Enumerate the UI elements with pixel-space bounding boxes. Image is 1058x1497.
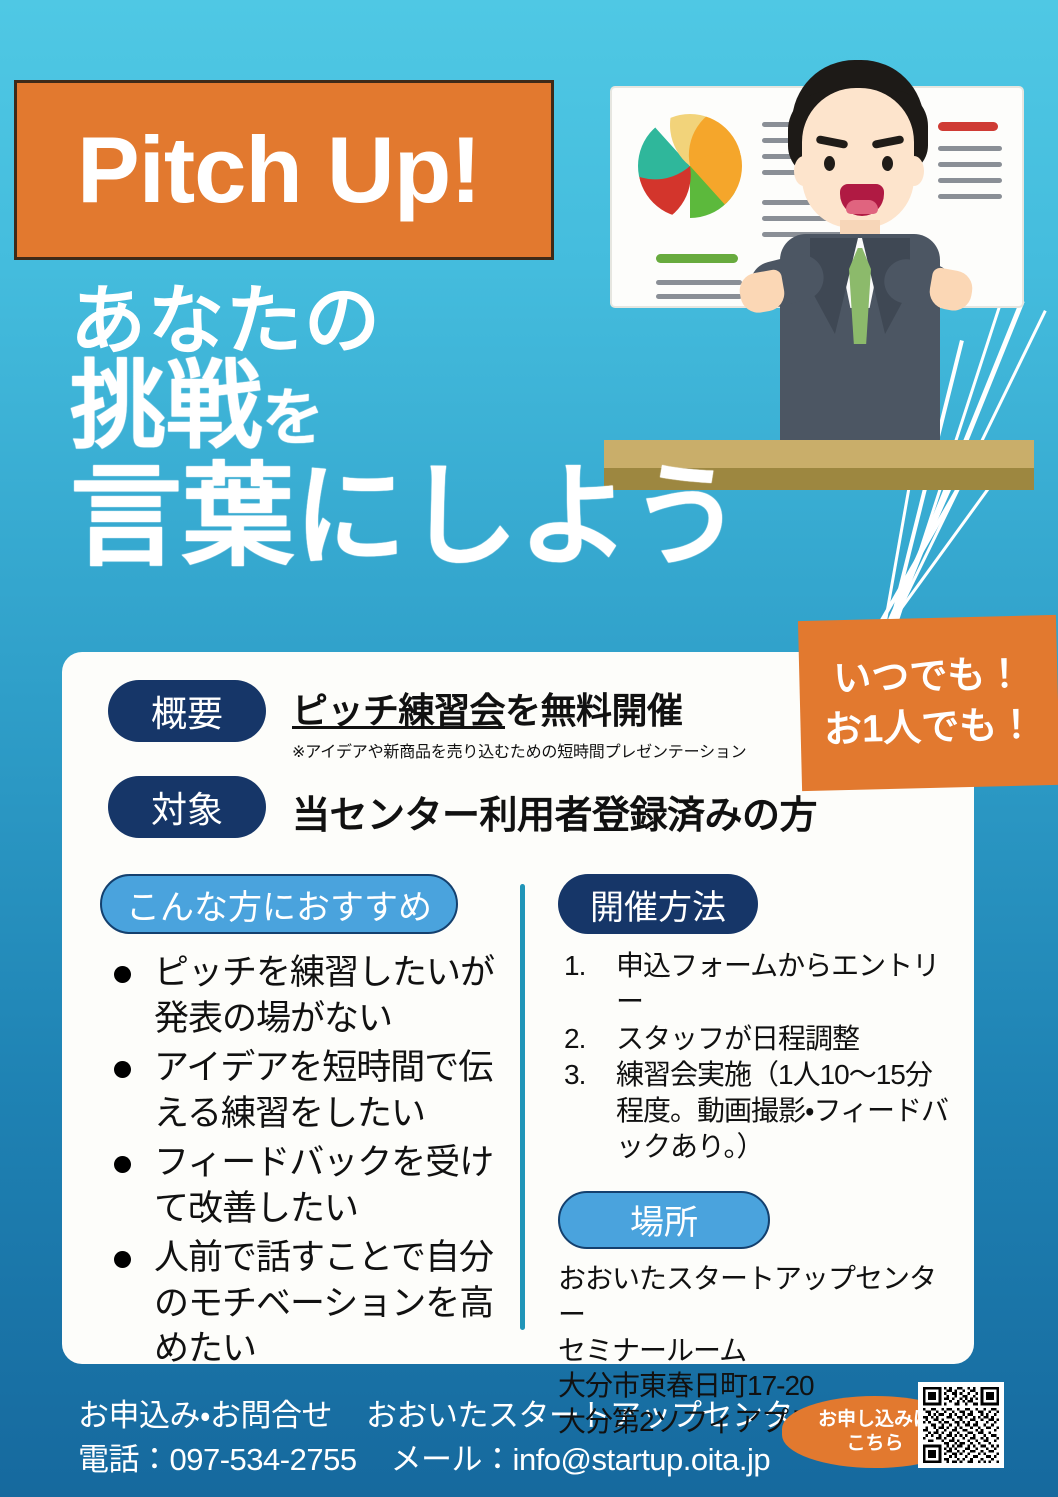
headline-line-3: 言葉にしよう xyxy=(70,460,790,574)
apply-label: お申込み・お問合せ xyxy=(78,1390,332,1435)
list-item: ピッチを練習したいが発表の場がない xyxy=(100,950,512,1041)
recommended-list: ピッチを練習したいが発表の場がない アイデアを短時間で伝える練習をしたい フィー… xyxy=(100,950,512,1372)
method-pill: 開催方法 xyxy=(558,874,758,934)
qr-code-image xyxy=(923,1387,999,1463)
address-line: セミナールーム xyxy=(558,1333,958,1369)
list-item: 練習会実施（1人10〜15分程度。動画撮影・フィードバックあり。） xyxy=(558,1057,958,1164)
target-pill: 対象 xyxy=(108,776,266,838)
headline-line-2: 挑戦を xyxy=(70,358,790,456)
place-pill: 場所 xyxy=(558,1191,770,1249)
list-item: スタッフが日程調整 xyxy=(558,1021,958,1057)
headline-line-2-main: 挑戦 xyxy=(70,353,262,460)
address-line: おおいたスタートアップセンター xyxy=(558,1261,958,1333)
availability-callout: いつでも！ お1人でも！ xyxy=(798,615,1058,791)
poster-root: Pitch Up! あなたの 挑戦を 言葉にしよう いつでも！ お1人でも！ 概… xyxy=(0,0,1058,1497)
title-banner: Pitch Up! xyxy=(14,80,554,260)
list-item: フィードバックを受けて改善したい xyxy=(100,1140,512,1231)
overview-pill: 概要 xyxy=(108,680,266,742)
pie-chart xyxy=(638,114,742,218)
headline-line-1: あなたの xyxy=(70,282,790,362)
overview-heading: ピッチ練習会を無料開催 xyxy=(292,682,747,734)
method-steps-list: 申込フォームからエントリー スタッフが日程調整 練習会実施（1人10〜15分程度… xyxy=(558,948,958,1165)
recommended-pill: こんな方におすすめ xyxy=(100,874,458,934)
callout-line-2: お1人でも！ xyxy=(823,700,1035,756)
headline-line-2-particle: を xyxy=(262,384,324,453)
overview-note: ※アイデアや新商品を売り込むための短時間プレゼンテーション xyxy=(292,738,747,762)
list-item: 申込フォームからエントリー xyxy=(558,948,958,1020)
list-item: アイデアを短時間で伝える練習をしたい xyxy=(100,1045,512,1136)
qr-code[interactable] xyxy=(918,1382,1004,1468)
phone-label[interactable]: 電話：097-534-2755 xyxy=(78,1434,357,1479)
recommended-column: こんな方におすすめ ピッチを練習したいが発表の場がない アイデアを短時間で伝える… xyxy=(100,874,512,1376)
method-place-column: 開催方法 申込フォームからエントリー スタッフが日程調整 練習会実施（1人10〜… xyxy=(558,874,958,1440)
overview-heading-underlined: ピッチ練習会 xyxy=(292,690,505,731)
callout-line-1: いつでも！ xyxy=(833,649,1024,705)
target-text: 当センター利用者登録済みの方 xyxy=(292,776,817,839)
headline-block: あなたの 挑戦を 言葉にしよう xyxy=(70,282,790,574)
list-item: 人前で話すことで自分のモチベーションを高めたい xyxy=(100,1235,512,1372)
column-divider xyxy=(520,884,525,1330)
poster-title: Pitch Up! xyxy=(77,123,481,217)
overview-heading-rest: を無料開催 xyxy=(505,690,683,731)
bubble-line-2: こちら xyxy=(846,1432,903,1456)
email-label[interactable]: メール：info@startup.oita.jp xyxy=(391,1434,771,1479)
bubble-line-1: お申し込みは xyxy=(818,1408,932,1432)
